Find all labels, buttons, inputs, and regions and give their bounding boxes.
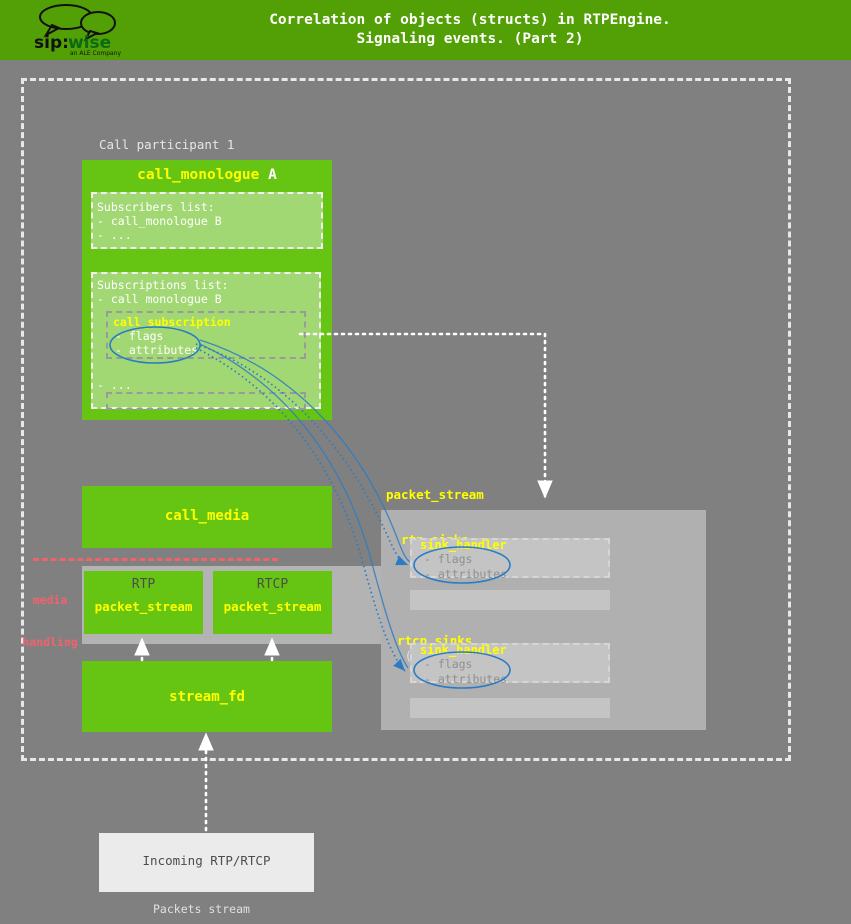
page-title: Correlation of objects (structs) in RTPE… bbox=[160, 0, 780, 60]
incoming-packets-box: Incoming RTP/RTCP bbox=[99, 833, 314, 892]
rtp-sinks-empty-slot bbox=[410, 590, 610, 610]
call-monologue-title: call_monologue A bbox=[82, 167, 332, 183]
rtcp-sink-handler-struct-name: sink_handler bbox=[420, 643, 507, 657]
rtp-struct-name: packet_stream bbox=[84, 599, 203, 614]
media-handling-line-2: handling bbox=[22, 635, 78, 649]
svg-text:an ALE Company: an ALE Company bbox=[70, 50, 122, 57]
subscriptions-more: - ... bbox=[97, 378, 132, 392]
subscriptions-heading: Subscriptions list: bbox=[97, 278, 229, 292]
svg-text:sip:: sip: bbox=[34, 33, 69, 53]
title-line-1: Correlation of objects (structs) in RTPE… bbox=[269, 11, 671, 30]
rtcp-sink-handler-field-flags: - flags bbox=[424, 657, 472, 671]
rtcp-sink-handler-box: sink_handler - flags - attributes bbox=[410, 643, 610, 683]
rtp-sink-handler-box: sink_handler - flags - attributes bbox=[410, 538, 610, 578]
stream-fd-struct-name: stream_fd bbox=[82, 689, 332, 705]
call-participant-label: Call participant 1 bbox=[99, 137, 234, 152]
rtcp-sink-handler-field-attributes: - attributes bbox=[424, 672, 507, 686]
rtp-packet-stream-card: RTP packet_stream bbox=[84, 571, 203, 634]
media-handling-divider bbox=[33, 558, 278, 561]
media-handling-label: media handling bbox=[22, 565, 78, 663]
stream-fd-card: stream_fd bbox=[82, 661, 332, 732]
rtcp-sinks-empty-slot bbox=[410, 698, 610, 718]
rtp-kind-label: RTP bbox=[84, 577, 203, 592]
rtp-sink-handler-struct-name: sink_handler bbox=[420, 538, 507, 552]
page-header: sip: wise an ALE Company Correlation of … bbox=[0, 0, 851, 60]
packet-stream-panel-title: packet_stream bbox=[386, 487, 484, 502]
media-handling-line-1: media bbox=[22, 593, 78, 607]
rtp-sink-handler-field-attributes: - attributes bbox=[424, 567, 507, 581]
call-subscription-field-flags: - flags bbox=[115, 329, 163, 343]
packets-stream-caption: Packets stream bbox=[153, 902, 250, 916]
rtcp-kind-label: RTCP bbox=[213, 577, 332, 592]
rtp-sink-handler-field-flags: - flags bbox=[424, 552, 472, 566]
call-media-struct-name: call_media bbox=[82, 508, 332, 524]
rtcp-packet-stream-card: RTCP packet_stream bbox=[213, 571, 332, 634]
call-subscription-struct-name: call_subscription bbox=[113, 315, 231, 329]
sipwise-logo: sip: wise an ALE Company bbox=[28, 3, 140, 57]
call-monologue-struct-name: call_monologue bbox=[137, 167, 259, 183]
call-subscription-field-attributes: - attributes bbox=[115, 343, 198, 357]
subscribers-item-0: - call_monologue B bbox=[97, 214, 222, 228]
call-media-card: call_media bbox=[82, 486, 332, 548]
subscriptions-item: - call monologue B bbox=[97, 292, 222, 306]
subscribers-heading: Subscribers list: bbox=[97, 200, 215, 214]
call-monologue-instance: A bbox=[268, 167, 277, 183]
empty-subscription-box bbox=[106, 392, 306, 410]
rtcp-struct-name: packet_stream bbox=[213, 599, 332, 614]
title-line-2: Signaling events. (Part 2) bbox=[357, 30, 584, 49]
subscribers-item-1: - ... bbox=[97, 228, 132, 242]
incoming-packets-label: Incoming RTP/RTCP bbox=[99, 853, 314, 868]
